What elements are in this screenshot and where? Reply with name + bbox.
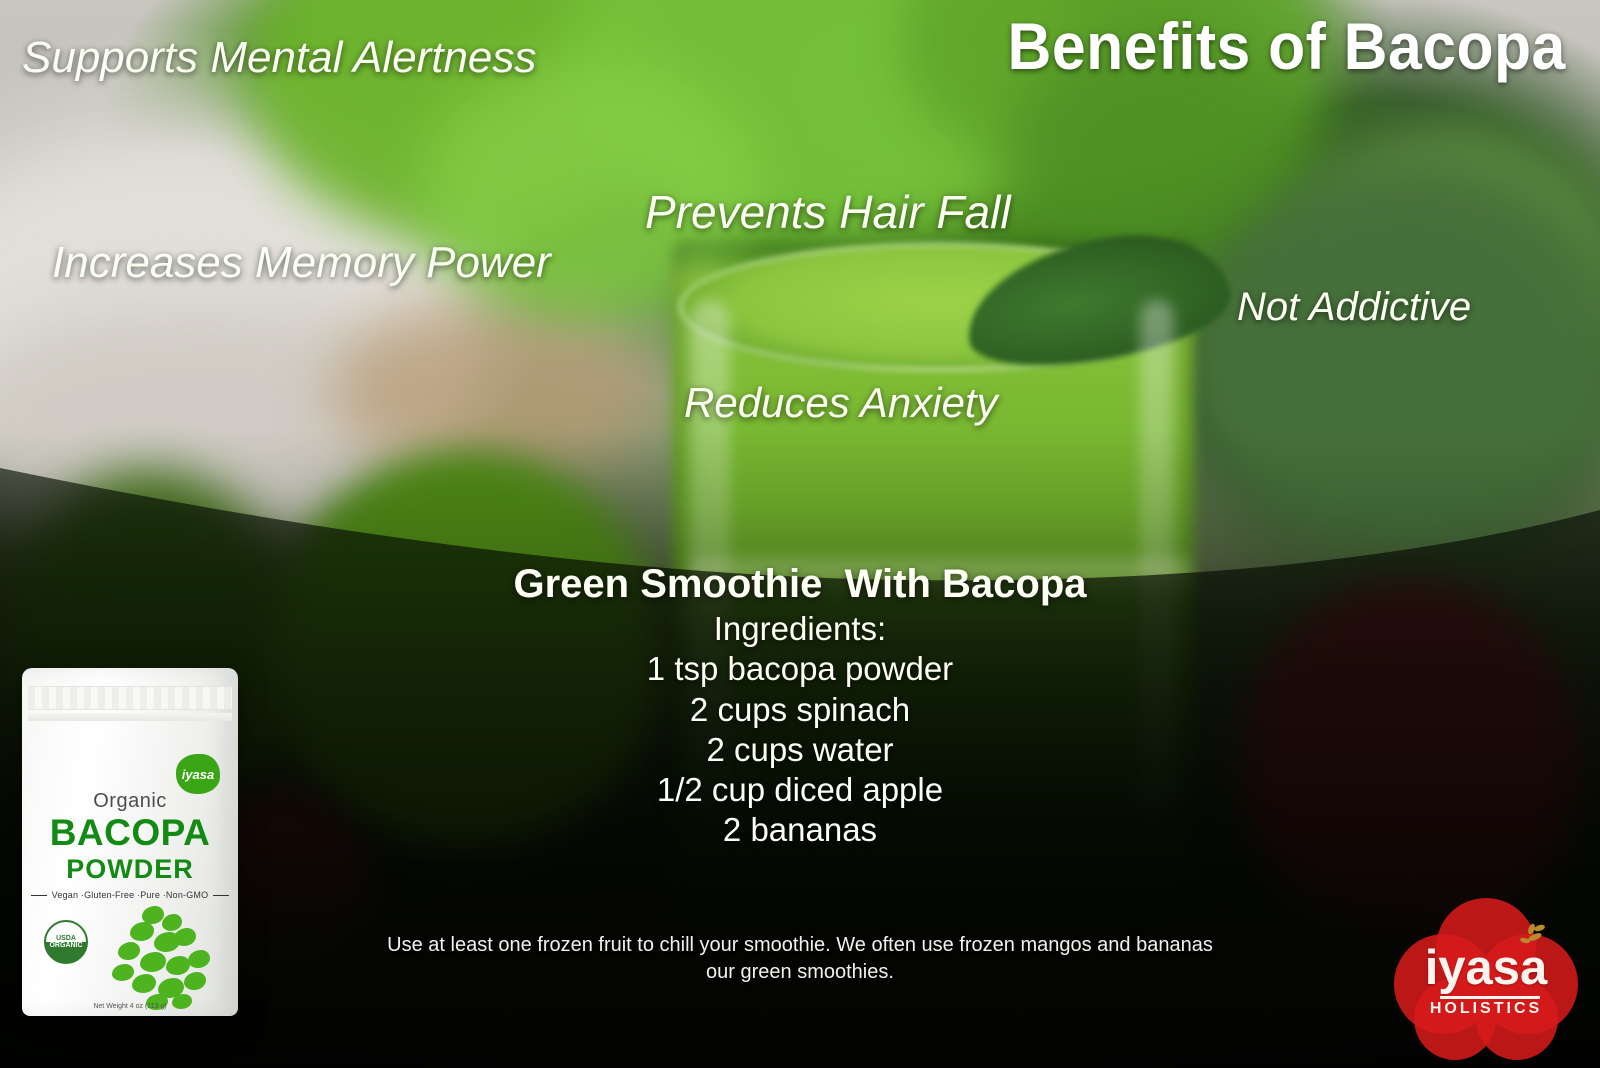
claims-rule-right xyxy=(213,895,229,896)
package-brand-mark: iyasa xyxy=(176,754,220,794)
package-product-name: BACOPA xyxy=(22,812,238,854)
recipe-ingredient-item: 2 cups spinach xyxy=(0,690,1600,730)
benefit-not-addictive: Not Addictive xyxy=(1237,285,1471,330)
logo-underline xyxy=(1440,996,1540,999)
page-title: Benefits of Bacopa xyxy=(1008,8,1566,84)
benefit-reduces-anxiety: Reduces Anxiety xyxy=(684,379,998,427)
usda-seal-line-1: USDA xyxy=(56,935,76,942)
package-seal-band xyxy=(28,713,232,721)
iyasa-holistics-logo: iyasa HOLISTICS xyxy=(1388,892,1584,1056)
package-organic-label: Organic xyxy=(22,790,238,813)
package-claims-row: Vegan ·Gluten-Free ·Pure ·Non-GMO xyxy=(22,890,238,900)
recipe-ingredient-item: 1/2 cup diced apple xyxy=(0,770,1600,810)
plant-leaf xyxy=(162,914,182,931)
footnote-line-2: our green smoothies. xyxy=(0,959,1600,986)
footnote-line-1: Use at least one frozen fruit to chill y… xyxy=(0,932,1600,959)
usda-seal-line-2: ORGANIC xyxy=(49,942,82,949)
plant-leaf xyxy=(132,974,156,993)
infographic-poster: Benefits of Bacopa Supports Mental Alert… xyxy=(0,0,1600,1068)
package-claims-text: Vegan ·Gluten-Free ·Pure ·Non-GMO xyxy=(52,890,209,900)
product-package: iyasa Organic BACOPA POWDER Vegan ·Glute… xyxy=(22,668,238,1016)
plant-leaf xyxy=(188,950,210,968)
bottom-vignette xyxy=(0,0,1600,1068)
footnote: Use at least one frozen fruit to chill y… xyxy=(0,932,1600,986)
plant-leaf xyxy=(130,922,154,941)
recipe-block: Green Smoothie With Bacopa Ingredients: … xyxy=(0,562,1600,851)
recipe-title: Green Smoothie With Bacopa xyxy=(0,562,1600,607)
benefit-supports-mental-alertness: Supports Mental Alertness xyxy=(22,33,536,83)
plant-leaf xyxy=(184,972,206,990)
claims-rule-left xyxy=(31,895,47,896)
plant-leaf xyxy=(112,964,134,981)
recipe-ingredient-item: 1 tsp bacopa powder xyxy=(0,649,1600,689)
usda-organic-seal-icon: USDA ORGANIC xyxy=(44,920,88,964)
package-net-weight: Net Weight 4 oz (113 g) xyxy=(22,1003,238,1010)
logo-wordmark: iyasa xyxy=(1388,944,1584,993)
benefit-prevents-hair-fall: Prevents Hair Fall xyxy=(645,185,1011,239)
bacopa-plant-illustration xyxy=(96,906,222,1010)
package-zip-seal xyxy=(28,686,232,710)
logo-tagline: HOLISTICS xyxy=(1388,1000,1584,1018)
package-product-form: POWDER xyxy=(22,854,238,885)
recipe-ingredient-item: 2 cups water xyxy=(0,730,1600,770)
benefit-increases-memory-power: Increases Memory Power xyxy=(52,238,551,288)
plant-leaf xyxy=(118,942,140,960)
plant-leaf xyxy=(166,956,190,975)
plant-leaf xyxy=(174,928,196,946)
recipe-ingredients-label: Ingredients: xyxy=(0,609,1600,649)
recipe-ingredient-item: 2 bananas xyxy=(0,810,1600,850)
plant-leaf xyxy=(140,952,166,972)
